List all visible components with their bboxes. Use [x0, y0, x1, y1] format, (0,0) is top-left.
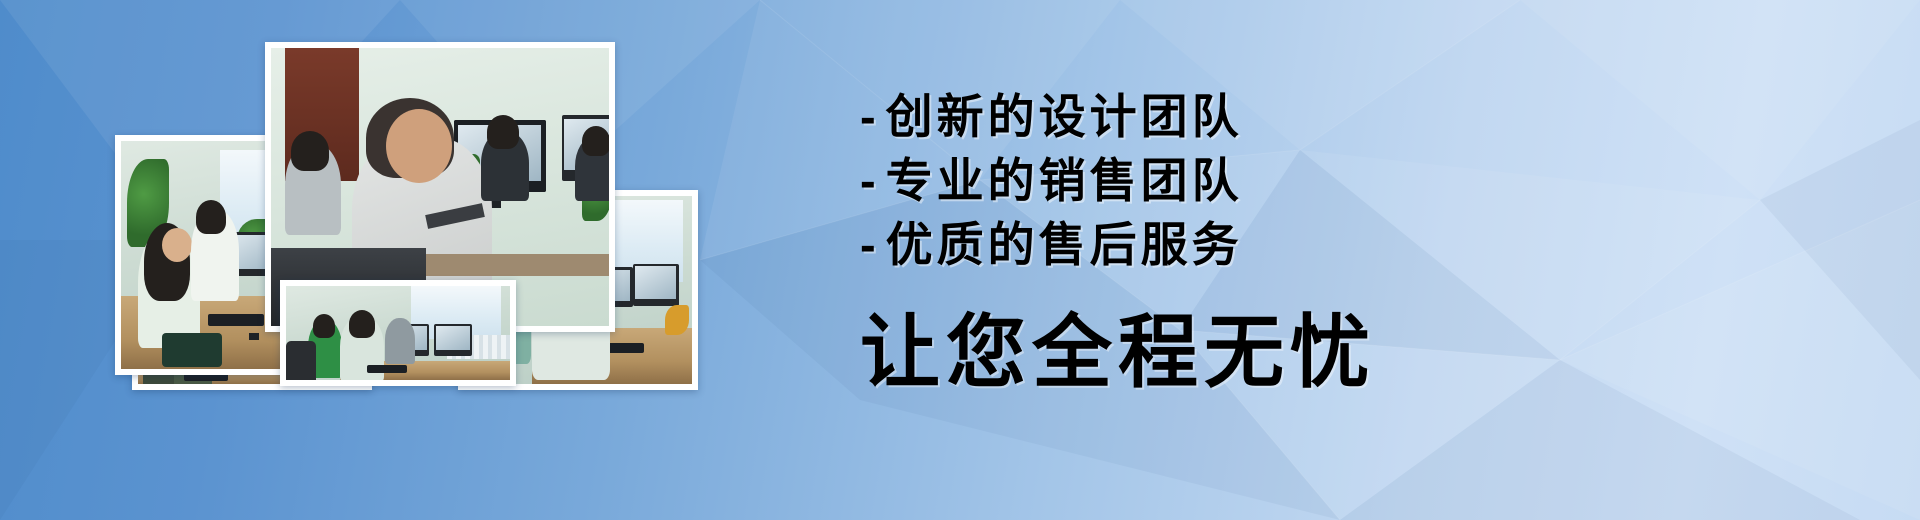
feature-item-2: -专业的销售团队: [860, 142, 1243, 211]
banner-headline: 让您全程无忧: [860, 288, 1376, 404]
feature-label-3: 优质的售后服务: [886, 218, 1243, 271]
collage-photo-office-team-green-shirts: [280, 280, 516, 386]
feature-label-1: 创新的设计团队: [886, 90, 1243, 143]
bullet-dash-1: -: [860, 90, 880, 143]
photo-collage: [0, 0, 760, 520]
feature-item-1: -创新的设计团队: [860, 78, 1243, 147]
feature-label-2: 专业的销售团队: [886, 154, 1243, 207]
company-strengths-banner: -创新的设计团队 -专业的销售团队 -优质的售后服务 让您全程无忧: [0, 0, 1920, 520]
bullet-dash-3: -: [860, 218, 880, 271]
marketing-text-block: -创新的设计团队 -专业的销售团队 -优质的售后服务 让您全程无忧: [860, 0, 1920, 520]
bullet-dash-2: -: [860, 154, 880, 207]
feature-item-3: -优质的售后服务: [860, 206, 1243, 275]
